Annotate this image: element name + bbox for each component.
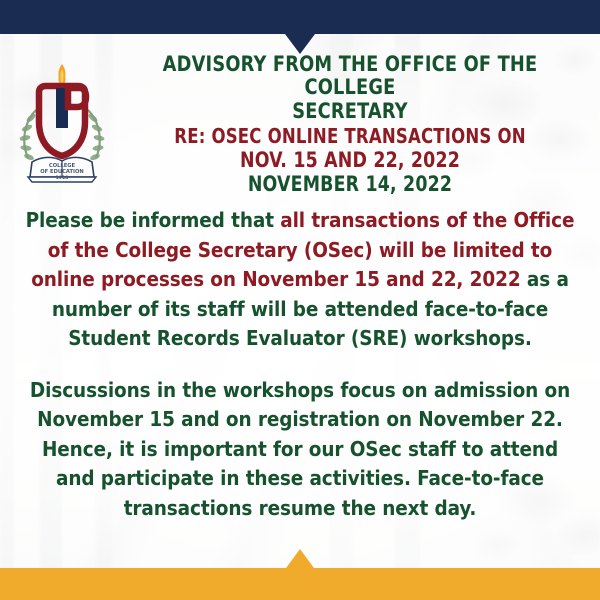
- heading-group: ADVISORY FROM THE OFFICE OF THE COLLEGE …: [118, 50, 600, 195]
- bottom-bar-triangle-notch: [286, 549, 314, 568]
- heading-line-3-subject: RE: OSEC ONLINE TRANSACTIONS ON: [137, 126, 564, 147]
- heading-line-1: ADVISORY FROM THE OFFICE OF THE COLLEGE: [137, 54, 564, 100]
- header-block: COLLEGE OF EDUCATION 1918 ADVISORY FROM …: [0, 50, 600, 195]
- seal-line3: 1918: [56, 175, 69, 181]
- paragraph-1: Please be informed that all transactions…: [24, 206, 576, 354]
- bottom-orange-bar: [0, 568, 600, 600]
- body-copy: Please be informed that all transactions…: [24, 206, 576, 523]
- seal-logo: COLLEGE OF EDUCATION 1918: [6, 58, 118, 188]
- top-navy-bar: [0, 0, 600, 34]
- seal-line2: OF EDUCATION: [40, 169, 83, 175]
- paragraph-2: Discussions in the workshops focus on ad…: [24, 376, 576, 524]
- advisory-poster: COLLEGE OF EDUCATION 1918 ADVISORY FROM …: [0, 0, 600, 600]
- heading-line-5-issue-date: NOVEMBER 14, 2022: [137, 173, 564, 195]
- heading-line-4-dates: NOV. 15 AND 22, 2022: [137, 149, 564, 171]
- paragraph-1-segment-1: Please be informed that: [26, 208, 281, 232]
- heading-line-2: SECRETARY: [137, 101, 564, 124]
